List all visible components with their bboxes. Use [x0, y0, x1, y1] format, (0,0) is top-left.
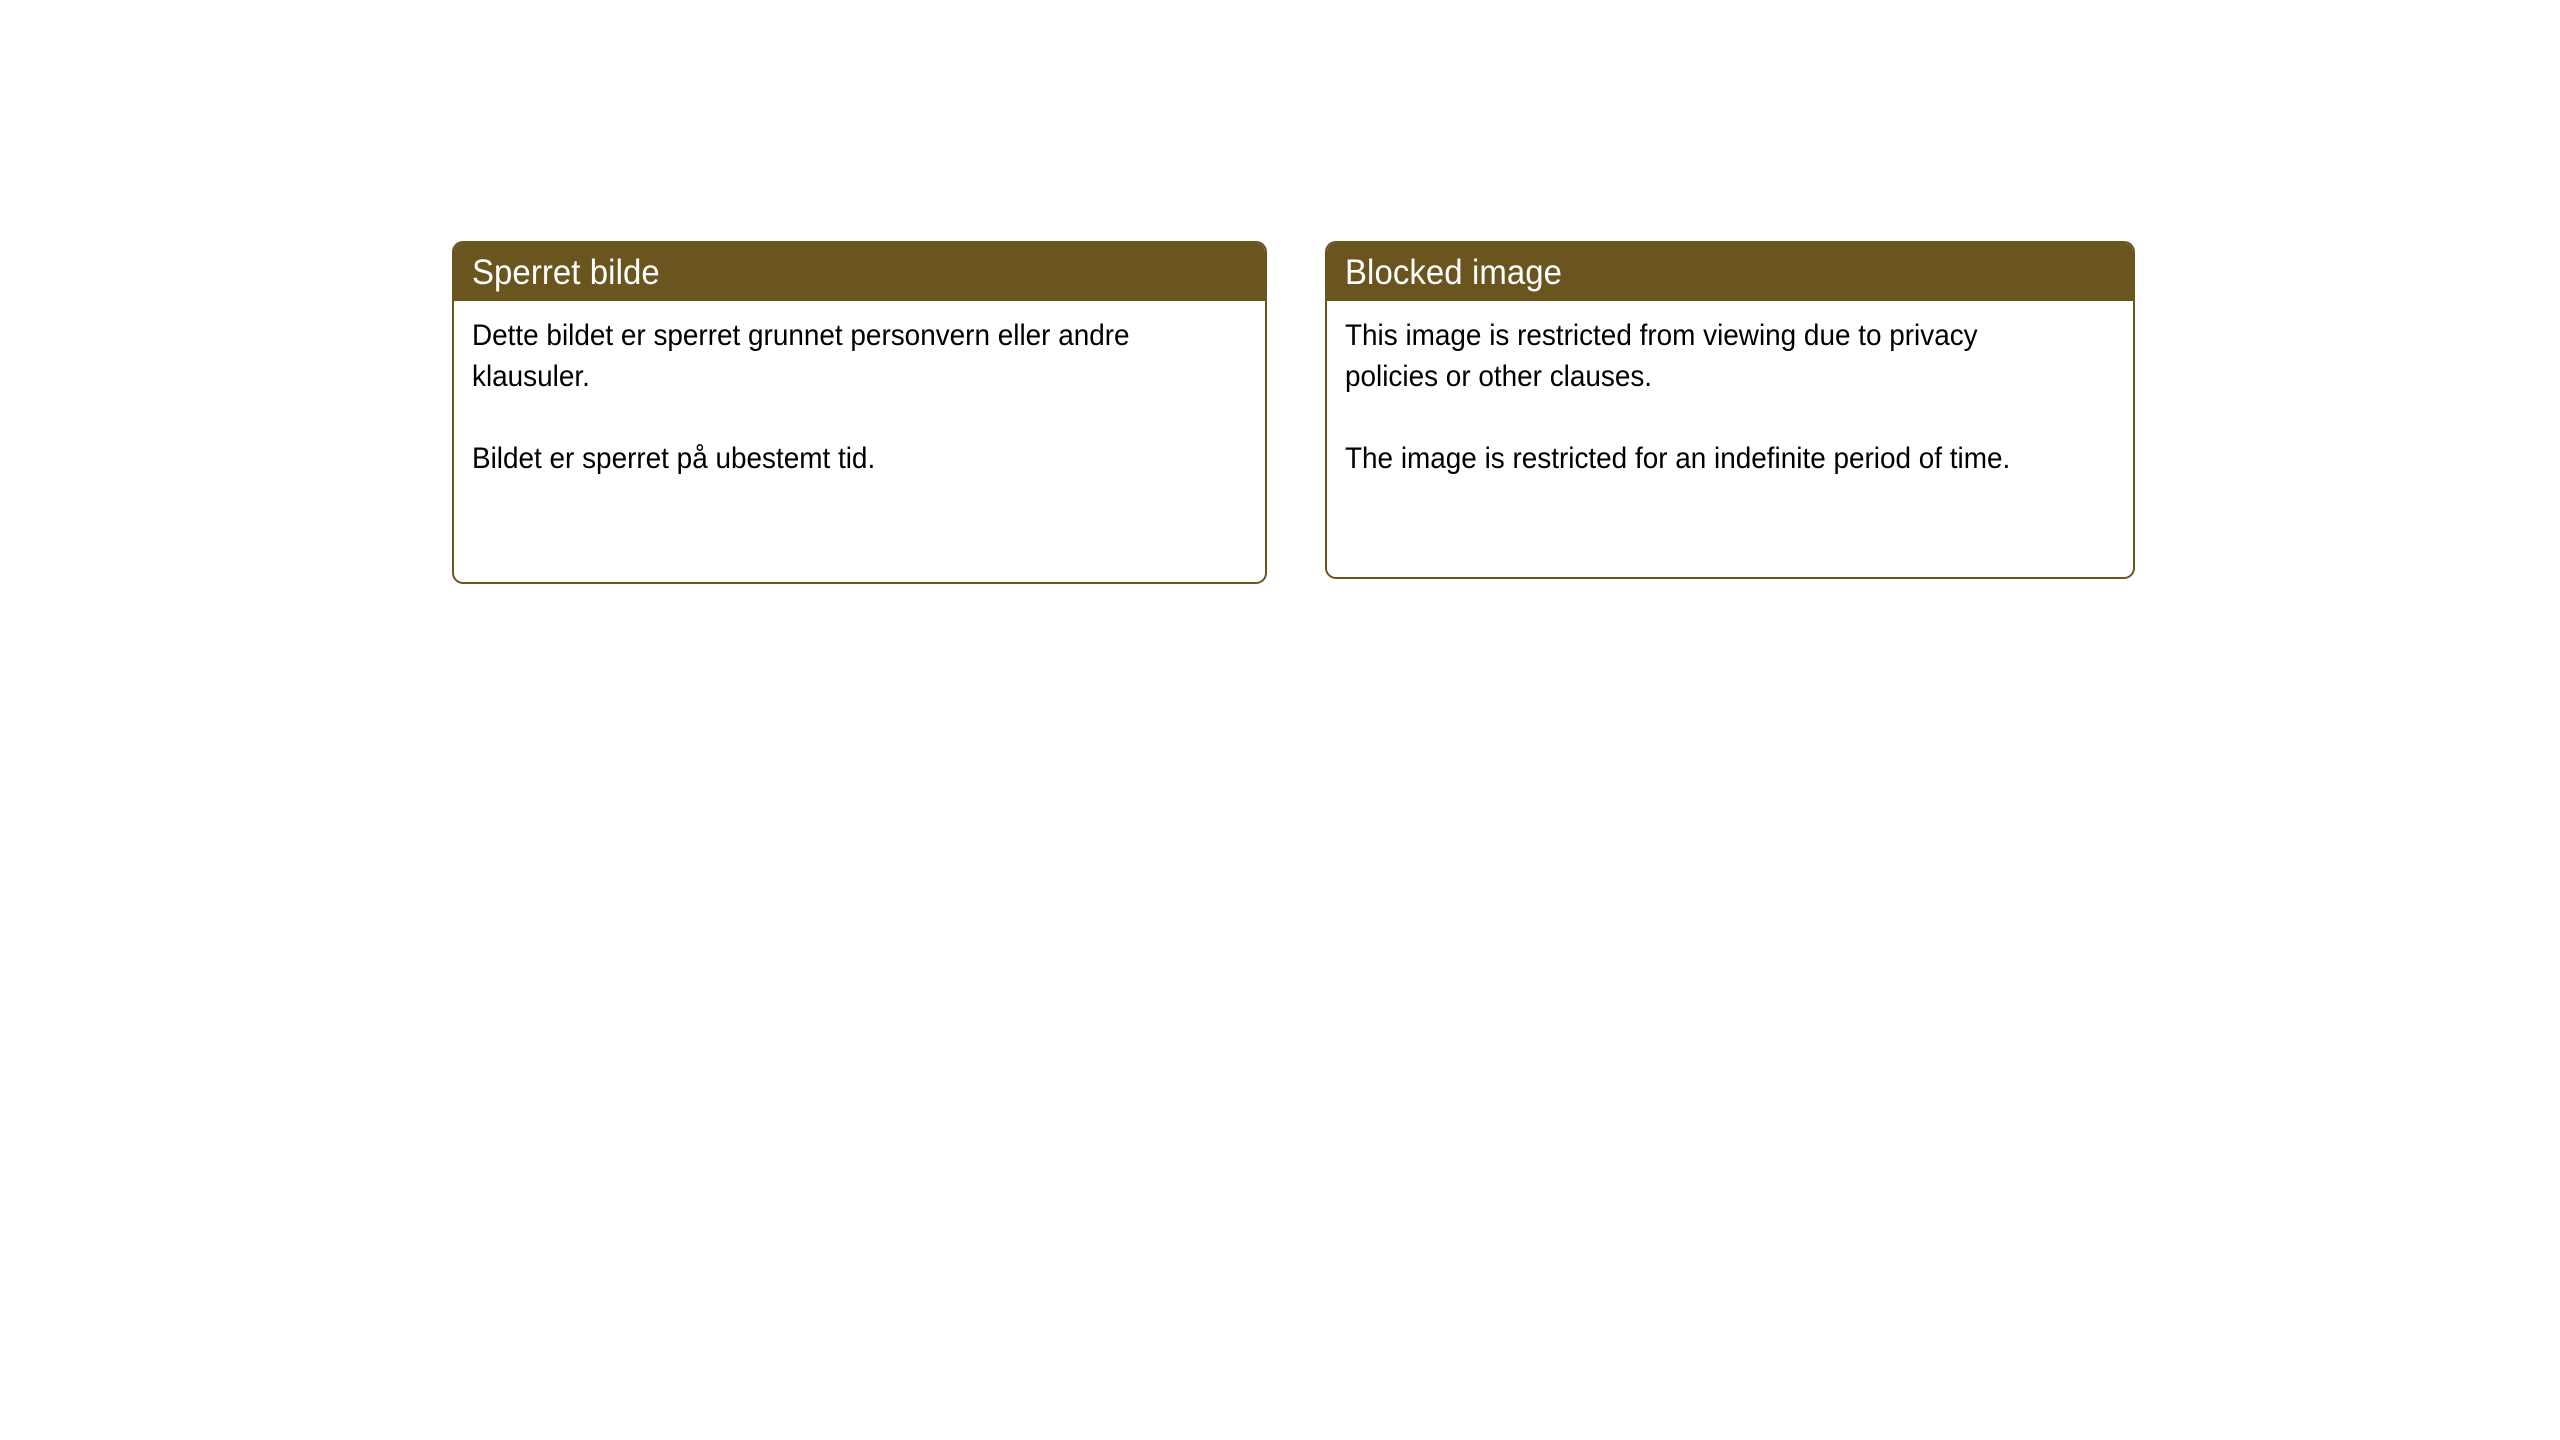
blocked-image-card-english: Blocked image This image is restricted f… [1325, 241, 2135, 579]
card-header-norwegian: Sperret bilde [454, 243, 1265, 301]
card-paragraph-secondary-norwegian: Bildet er sperret på ubestemt tid. [472, 438, 1195, 479]
card-header-english: Blocked image [1327, 243, 2133, 301]
card-body-norwegian: Dette bildet er sperret grunnet personve… [454, 301, 1265, 479]
blocked-image-card-norwegian: Sperret bilde Dette bildet er sperret gr… [452, 241, 1267, 584]
card-paragraph-primary-norwegian: Dette bildet er sperret grunnet personve… [472, 315, 1195, 397]
card-title-english: Blocked image [1345, 255, 1562, 290]
card-paragraph-primary-english: This image is restricted from viewing du… [1345, 315, 2063, 397]
card-title-norwegian: Sperret bilde [472, 255, 660, 290]
card-paragraph-secondary-english: The image is restricted for an indefinit… [1345, 438, 2063, 479]
card-body-english: This image is restricted from viewing du… [1327, 301, 2133, 479]
